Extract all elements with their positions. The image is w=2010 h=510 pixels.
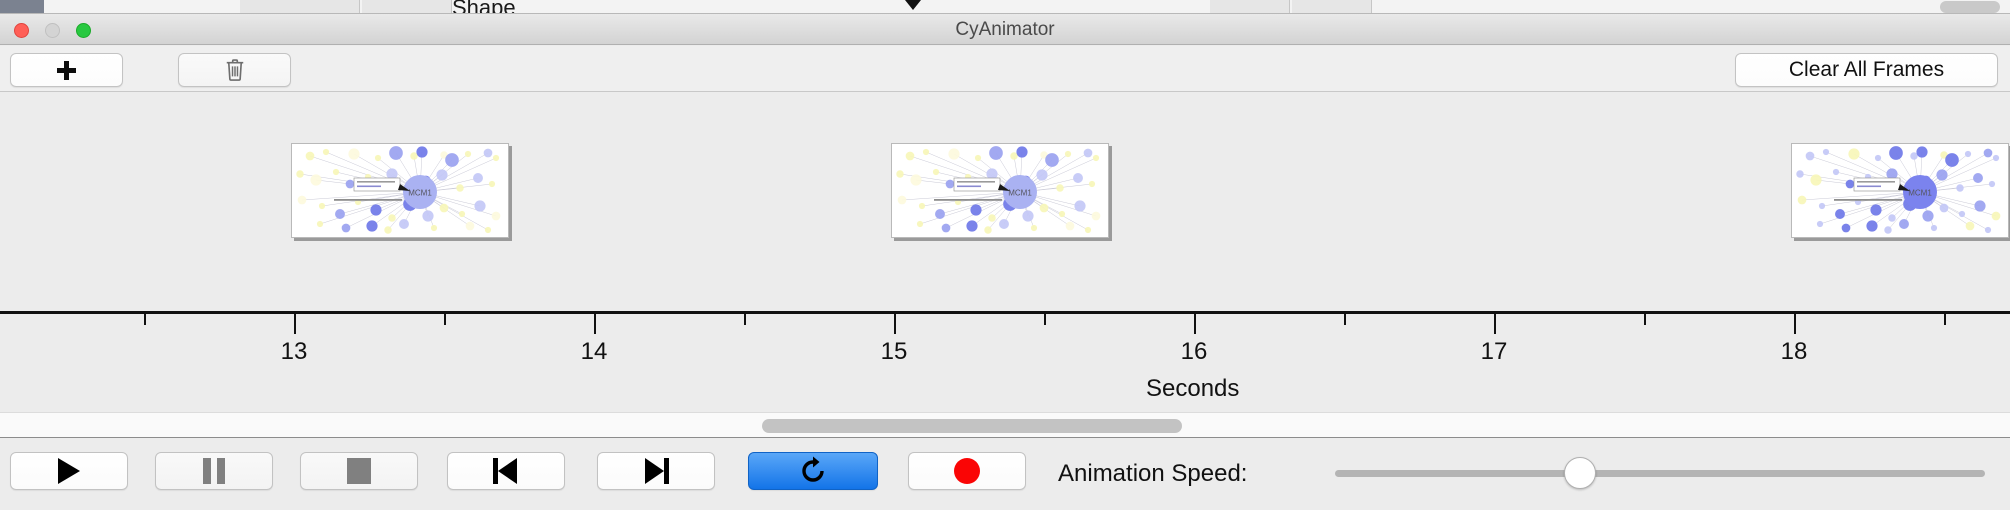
background-window-strip: Shape xyxy=(0,0,2010,14)
network-graph: MCM1 xyxy=(1792,144,2009,238)
prev-frame-button[interactable] xyxy=(447,452,565,490)
axis-tick-label: 13 xyxy=(281,338,308,366)
clear-all-frames-label: Clear All Frames xyxy=(1789,58,1944,82)
timeline-scrollbar-track[interactable] xyxy=(0,412,2010,438)
axis-tick-label: 18 xyxy=(1781,338,1808,366)
background-window-chip xyxy=(240,0,360,14)
cyanimator-window: Shape CyAnimator Clear All Frames MCM1MC… xyxy=(0,0,2010,510)
axis-tick-minor xyxy=(1344,314,1346,325)
axis-tick-label: 2 xyxy=(0,338,1,366)
frame-thumbnail: MCM1 xyxy=(292,144,508,237)
play-icon xyxy=(58,458,80,484)
stop-icon xyxy=(347,458,371,484)
axis-tick-major xyxy=(894,314,896,334)
skip-back-icon xyxy=(493,458,519,484)
axis-tick-major xyxy=(1794,314,1796,334)
axis-tick-major xyxy=(1194,314,1196,334)
axis-tick-label: 17 xyxy=(1481,338,1508,366)
animation-speed-label: Animation Speed: xyxy=(1058,460,1247,488)
plus-icon xyxy=(57,61,76,80)
network-graph: MCM1 xyxy=(292,144,509,238)
axis-tick-minor xyxy=(1644,314,1646,325)
frame-thumbnail: MCM1 xyxy=(892,144,1108,237)
axis-tick-major xyxy=(1494,314,1496,334)
svg-text:MCM1: MCM1 xyxy=(1008,189,1032,198)
play-button[interactable] xyxy=(10,452,128,490)
delete-frame-button[interactable] xyxy=(178,53,291,87)
background-window-scrollbar xyxy=(1940,1,2000,13)
animation-speed-thumb[interactable] xyxy=(1564,457,1596,489)
loop-icon xyxy=(798,456,828,486)
background-window-dark-chip xyxy=(0,0,44,14)
timeline-frame[interactable]: MCM1 xyxy=(891,143,1109,238)
background-window-caret-icon xyxy=(905,0,921,10)
axis-tick-label: 16 xyxy=(1181,338,1208,366)
axis-tick-minor xyxy=(744,314,746,325)
axis-tick-major xyxy=(294,314,296,334)
background-window-label: Shape xyxy=(452,0,516,14)
axis-tick-label: 14 xyxy=(581,338,608,366)
timeline-panel[interactable]: MCM1MCM1MCM1 2131415161718 Seconds xyxy=(0,93,2010,405)
network-graph: MCM1 xyxy=(892,144,1109,238)
axis-tick-minor xyxy=(444,314,446,325)
toolbar: Clear All Frames xyxy=(0,46,2010,92)
pause-icon xyxy=(203,458,225,484)
next-frame-button[interactable] xyxy=(597,452,715,490)
axis-tick-label: 15 xyxy=(881,338,908,366)
axis-tick-minor xyxy=(144,314,146,325)
svg-text:MCM1: MCM1 xyxy=(408,189,432,198)
transport-bar: Animation Speed: xyxy=(0,440,2010,510)
axis-tick-minor xyxy=(1044,314,1046,325)
axis-tick-minor xyxy=(1944,314,1946,325)
stop-button[interactable] xyxy=(300,452,418,490)
timeline-scrollbar-thumb[interactable] xyxy=(762,419,1182,433)
animation-speed-track[interactable] xyxy=(1335,470,1985,477)
record-icon xyxy=(954,458,980,484)
background-window-chip xyxy=(362,0,452,14)
axis-tick-major xyxy=(594,314,596,334)
title-bar: CyAnimator xyxy=(0,14,2010,45)
clear-all-frames-button[interactable]: Clear All Frames xyxy=(1735,53,1998,87)
skip-forward-icon xyxy=(643,458,669,484)
trash-icon xyxy=(224,58,246,82)
add-frame-button[interactable] xyxy=(10,53,123,87)
animation-speed-slider[interactable] xyxy=(1335,470,1985,477)
background-window-chip xyxy=(1292,0,1372,14)
svg-text:MCM1: MCM1 xyxy=(1908,189,1932,198)
background-window-chip xyxy=(1210,0,1290,14)
timeline-frame[interactable]: MCM1 xyxy=(291,143,509,238)
window-title: CyAnimator xyxy=(0,19,2010,41)
pause-button[interactable] xyxy=(155,452,273,490)
record-button[interactable] xyxy=(908,452,1026,490)
axis-title: Seconds xyxy=(1146,375,1239,403)
frame-thumbnail: MCM1 xyxy=(1792,144,2008,237)
timeline-frame[interactable]: MCM1 xyxy=(1791,143,2009,238)
timeline-axis xyxy=(0,311,2010,314)
loop-button[interactable] xyxy=(748,452,878,490)
